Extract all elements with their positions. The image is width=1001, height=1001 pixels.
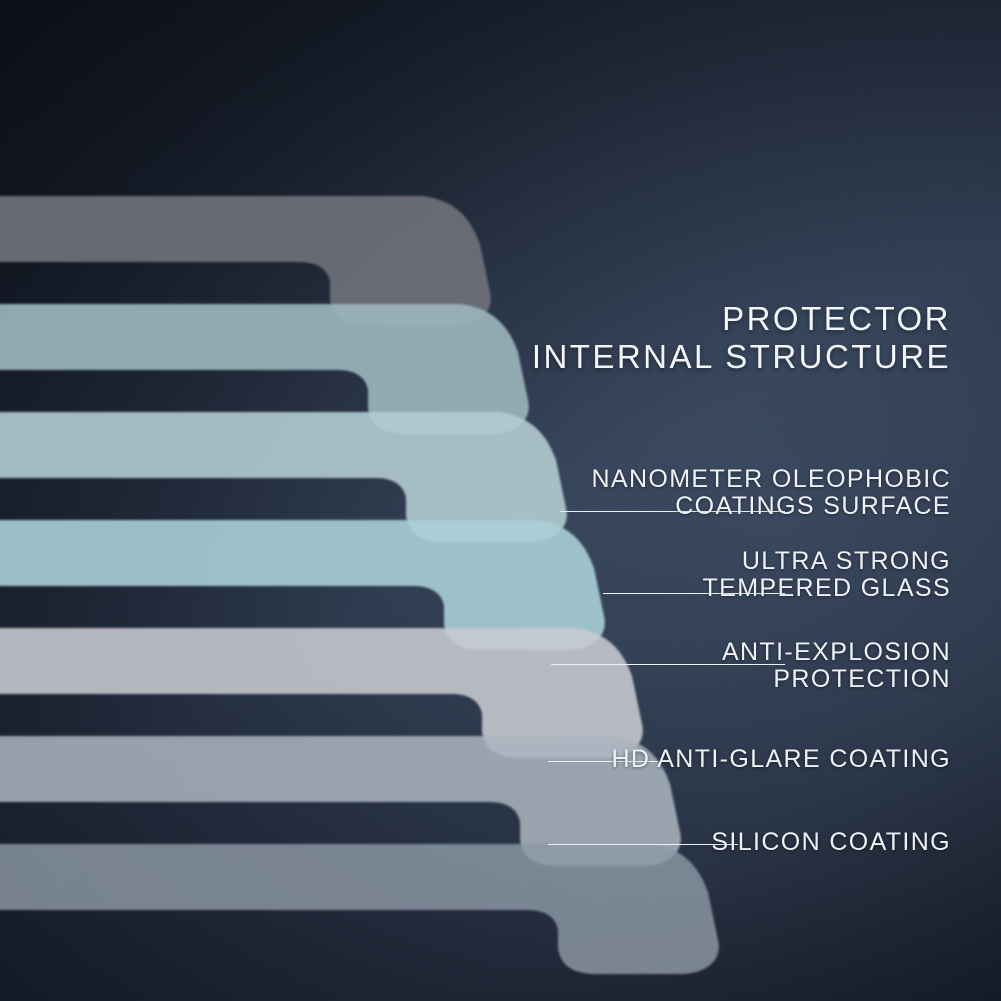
callout-label-silicon-coating: SILICON COATING <box>711 829 951 856</box>
leader-line-silicon-coating <box>548 844 738 845</box>
callout-label-hd-anti-glare-coating: HD ANTI-GLARE COATING <box>611 746 951 773</box>
callout-label-anti-explosion-protection: ANTI-EXPLOSION PROTECTION <box>722 639 951 693</box>
bottom-slate-layer <box>0 844 719 974</box>
page-title: PROTECTOR INTERNAL STRUCTURE <box>532 300 951 377</box>
title-line-2: INTERNAL STRUCTURE <box>532 338 951 376</box>
infographic-canvas: PROTECTOR INTERNAL STRUCTURE NANOMETER O… <box>0 0 1001 1001</box>
callout-label-ultra-strong-tempered-glass: ULTRA STRONG TEMPERED GLASS <box>703 548 951 602</box>
callout-label-nanometer-oleophobic: NANOMETER OLEOPHOBIC COATINGS SURFACE <box>592 466 952 520</box>
title-line-1: PROTECTOR <box>532 300 951 338</box>
